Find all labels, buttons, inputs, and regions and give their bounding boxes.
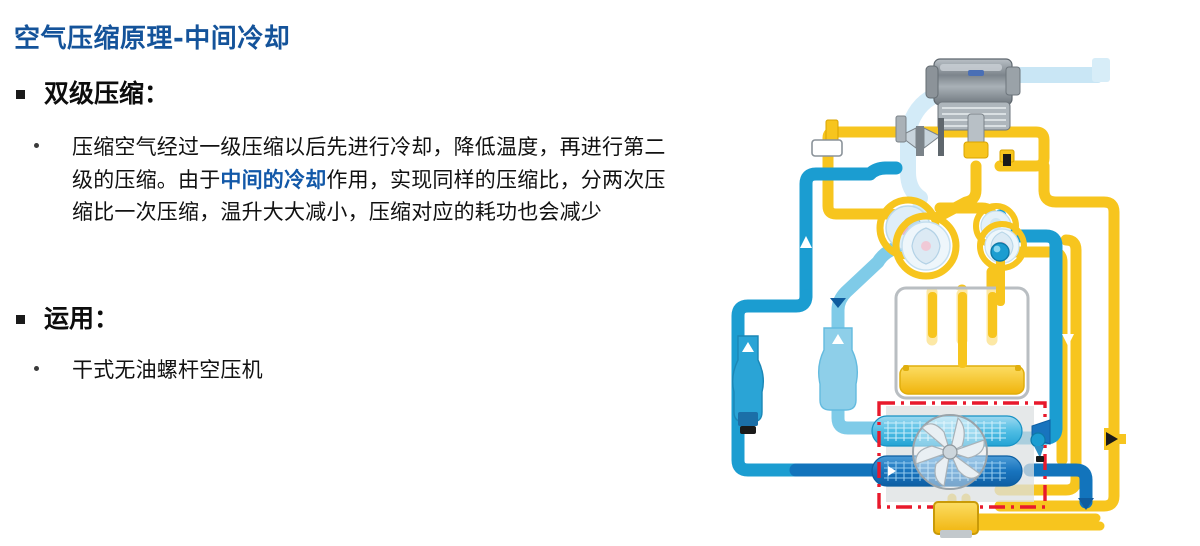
application-label: 干式无油螺杆空压机 bbox=[72, 358, 263, 382]
oil-sump bbox=[934, 502, 978, 538]
cooler-assembly bbox=[872, 406, 1034, 502]
bullet-level2-description: 压缩空气经过一级压缩以后先进行冷却，降低温度，再进行第二级的压缩。由于中间的冷却… bbox=[0, 131, 700, 229]
square-bullet-icon bbox=[16, 90, 25, 99]
bullet-level1-application: 运用： bbox=[0, 303, 700, 334]
bullet-level1-label: 双级压缩： bbox=[44, 79, 169, 108]
cooling-fan bbox=[913, 415, 987, 489]
bullet-level1-double-stage-compression: 双级压缩： bbox=[0, 78, 700, 109]
bullet-level2-application-item: 干式无油螺杆空压机 bbox=[0, 354, 700, 387]
description-highlight: 中间的冷却 bbox=[220, 168, 326, 192]
square-bullet-icon bbox=[16, 315, 25, 324]
round-bullet-icon bbox=[34, 143, 39, 148]
page-title: 空气压缩原理-中间冷却 bbox=[14, 18, 290, 55]
inlet-valve bbox=[812, 120, 842, 156]
compressor-schematic-diagram bbox=[700, 40, 1200, 546]
condensate-drain-valve-right bbox=[819, 328, 858, 410]
round-bullet-icon bbox=[34, 366, 39, 371]
slide-body: 双级压缩： 压缩空气经过一级压缩以后先进行冷却，降低温度，再进行第二级的压缩。由… bbox=[0, 78, 700, 387]
bullet-level1-label: 运用： bbox=[44, 304, 119, 333]
